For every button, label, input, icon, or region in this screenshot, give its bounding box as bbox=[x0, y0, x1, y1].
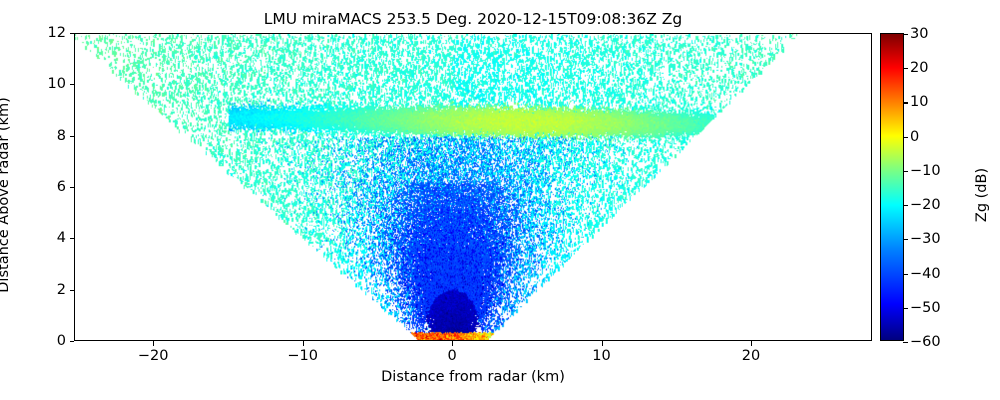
colorbar-tick bbox=[903, 274, 908, 275]
colorbar-tick-label: −50 bbox=[910, 300, 941, 316]
main-axes bbox=[74, 33, 872, 341]
x-tick-label: −10 bbox=[287, 348, 318, 364]
colorbar-tick bbox=[903, 239, 908, 240]
plot-title: LMU miraMACS 253.5 Deg. 2020-12-15T09:08… bbox=[74, 10, 872, 28]
colorbar-tick bbox=[903, 342, 908, 343]
colorbar-tick bbox=[903, 205, 908, 206]
y-tick-label: 4 bbox=[57, 230, 66, 246]
y-tick bbox=[70, 84, 75, 85]
y-tick bbox=[70, 136, 75, 137]
x-tick bbox=[751, 341, 752, 346]
x-tick bbox=[153, 341, 154, 346]
x-tick bbox=[602, 341, 603, 346]
colorbar-tick-label: −30 bbox=[910, 231, 941, 247]
x-tick-label: −20 bbox=[138, 348, 169, 364]
x-tick bbox=[452, 341, 453, 346]
colorbar-tick-label: −20 bbox=[910, 197, 941, 213]
y-tick-label: 0 bbox=[57, 333, 66, 349]
y-tick bbox=[70, 341, 75, 342]
colorbar-tick bbox=[903, 171, 908, 172]
y-tick bbox=[70, 33, 75, 34]
figure-canvas: LMU miraMACS 253.5 Deg. 2020-12-15T09:08… bbox=[0, 0, 1000, 400]
colorbar: −60−50−40−30−20−100102030 bbox=[880, 33, 904, 341]
y-tick bbox=[70, 290, 75, 291]
x-tick-label: 20 bbox=[742, 348, 760, 364]
colorbar-tick bbox=[903, 308, 908, 309]
y-tick-label: 10 bbox=[48, 76, 66, 92]
colorbar-tick-label: 20 bbox=[910, 60, 928, 76]
y-axis-label: Distance Above radar (km) bbox=[0, 41, 12, 349]
x-tick-label: 10 bbox=[592, 348, 610, 364]
y-tick-label: 2 bbox=[57, 282, 66, 298]
colorbar-tick-label: 10 bbox=[910, 94, 928, 110]
colorbar-tick bbox=[903, 34, 908, 35]
radar-rhi-scatter bbox=[75, 34, 871, 340]
colorbar-tick bbox=[903, 68, 908, 69]
colorbar-tick-label: 0 bbox=[910, 129, 919, 145]
y-tick-label: 8 bbox=[57, 128, 66, 144]
y-tick bbox=[70, 187, 75, 188]
x-tick bbox=[303, 341, 304, 346]
colorbar-tick-label: −60 bbox=[910, 334, 941, 350]
colorbar-tick bbox=[903, 137, 908, 138]
colorbar-tick bbox=[903, 102, 908, 103]
y-tick-label: 12 bbox=[48, 25, 66, 41]
colorbar-tick-label: 30 bbox=[910, 26, 928, 42]
y-tick bbox=[70, 238, 75, 239]
x-tick-label: 0 bbox=[447, 348, 456, 364]
y-tick-label: 6 bbox=[57, 179, 66, 195]
x-axis-label: Distance from radar (km) bbox=[74, 369, 872, 385]
colorbar-tick-label: −40 bbox=[910, 266, 941, 282]
colorbar-tick-label: −10 bbox=[910, 163, 941, 179]
colorbar-label: Zg (dB) bbox=[974, 41, 990, 349]
